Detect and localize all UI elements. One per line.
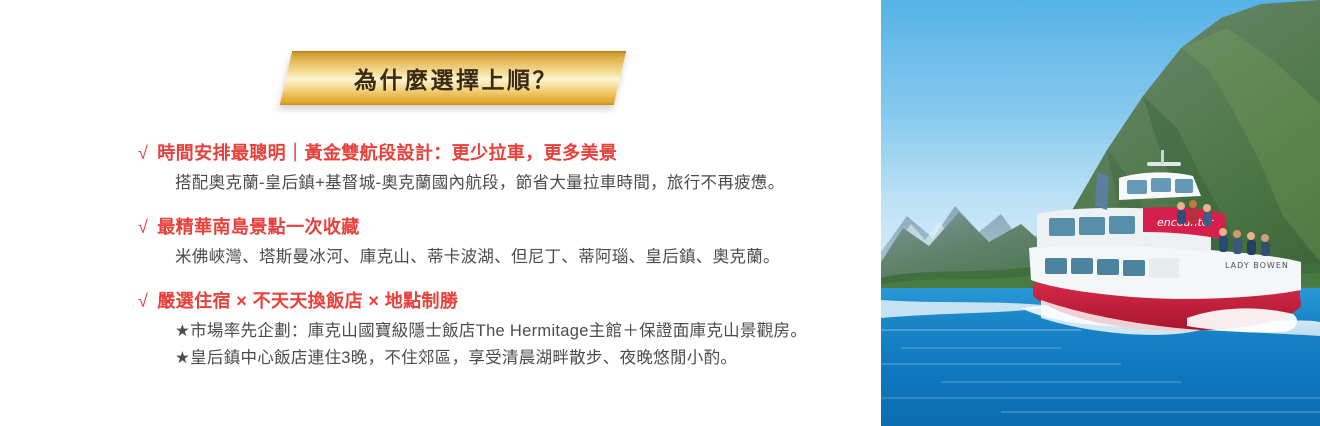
- check-icon: √: [138, 288, 148, 314]
- promo-page: 為什麼選擇上順？ √ 時間安排最聰明｜黃金雙航段設計：更少拉車，更多美景 搭配奧…: [0, 0, 1320, 426]
- feature-item: √ 最精華南島景點一次收藏 米佛峽灣、塔斯曼冰河、庫克山、蒂卡波湖、但尼丁、蒂阿…: [138, 214, 858, 272]
- check-icon: √: [138, 214, 148, 240]
- feature-heading-row: √ 最精華南島景點一次收藏: [138, 214, 858, 240]
- fjord-cruise-photo: encounter: [881, 0, 1320, 426]
- banner-title: 為什麼選擇上順？: [286, 51, 620, 105]
- boat-name-text: LADY BOWEN: [1225, 261, 1289, 270]
- feature-heading-text: 時間安排最聰明｜黃金雙航段設計：更少拉車，更多美景: [157, 140, 617, 166]
- boat-upper-windows: [1049, 216, 1135, 236]
- boat-antenna: [1161, 150, 1164, 164]
- content-column: 為什麼選擇上順？ √ 時間安排最聰明｜黃金雙航段設計：更少拉車，更多美景 搭配奧…: [0, 0, 881, 426]
- feature-heading-row: √ 嚴選住宿 × 不天天換飯店 × 地點制勝: [138, 288, 858, 314]
- feature-body: 搭配奧克蘭-皇后鎮+基督城-奧克蘭國內航段，節省大量拉車時間，旅行不再疲憊。: [175, 170, 858, 198]
- feature-item: √ 嚴選住宿 × 不天天換飯店 × 地點制勝 ★市場率先企劃：庫克山國寶級隱士飯…: [138, 288, 858, 374]
- feature-heading-text: 最精華南島景點一次收藏: [157, 214, 359, 240]
- fjord-cruise-illustration: encounter: [881, 0, 1320, 426]
- feature-body-line: ★市場率先企劃：庫克山國寶級隱士飯店The Hermitage主館＋保證面庫克山…: [175, 318, 858, 346]
- feature-heading-row: √ 時間安排最聰明｜黃金雙航段設計：更少拉車，更多美景: [138, 140, 858, 166]
- feature-item: √ 時間安排最聰明｜黃金雙航段設計：更少拉車，更多美景 搭配奧克蘭-皇后鎮+基督…: [138, 140, 858, 198]
- feature-heading-text: 嚴選住宿 × 不天天換飯店 × 地點制勝: [157, 288, 458, 314]
- boat-funnel: [1095, 172, 1109, 210]
- check-icon: √: [138, 140, 148, 166]
- feature-list: √ 時間安排最聰明｜黃金雙航段設計：更少拉車，更多美景 搭配奧克蘭-皇后鎮+基督…: [138, 140, 858, 389]
- feature-body: 米佛峽灣、塔斯曼冰河、庫克山、蒂卡波湖、但尼丁、蒂阿瑙、皇后鎮、奧克蘭。: [175, 244, 858, 272]
- feature-body-line: 搭配奧克蘭-皇后鎮+基督城-奧克蘭國內航段，節省大量拉車時間，旅行不再疲憊。: [175, 170, 858, 198]
- feature-body-line: 米佛峽灣、塔斯曼冰河、庫克山、蒂卡波湖、但尼丁、蒂阿瑙、皇后鎮、奧克蘭。: [175, 244, 858, 272]
- section-banner: 為什麼選擇上順？: [286, 51, 620, 105]
- feature-body: ★市場率先企劃：庫克山國寶級隱士飯店The Hermitage主館＋保證面庫克山…: [175, 318, 858, 373]
- wheelhouse-windows: [1127, 178, 1193, 194]
- boat-door: [1149, 258, 1179, 278]
- feature-body-line: ★皇后鎮中心飯店連住3晚，不住郊區，享受清晨湖畔散步、夜晚悠閒小酌。: [175, 345, 858, 373]
